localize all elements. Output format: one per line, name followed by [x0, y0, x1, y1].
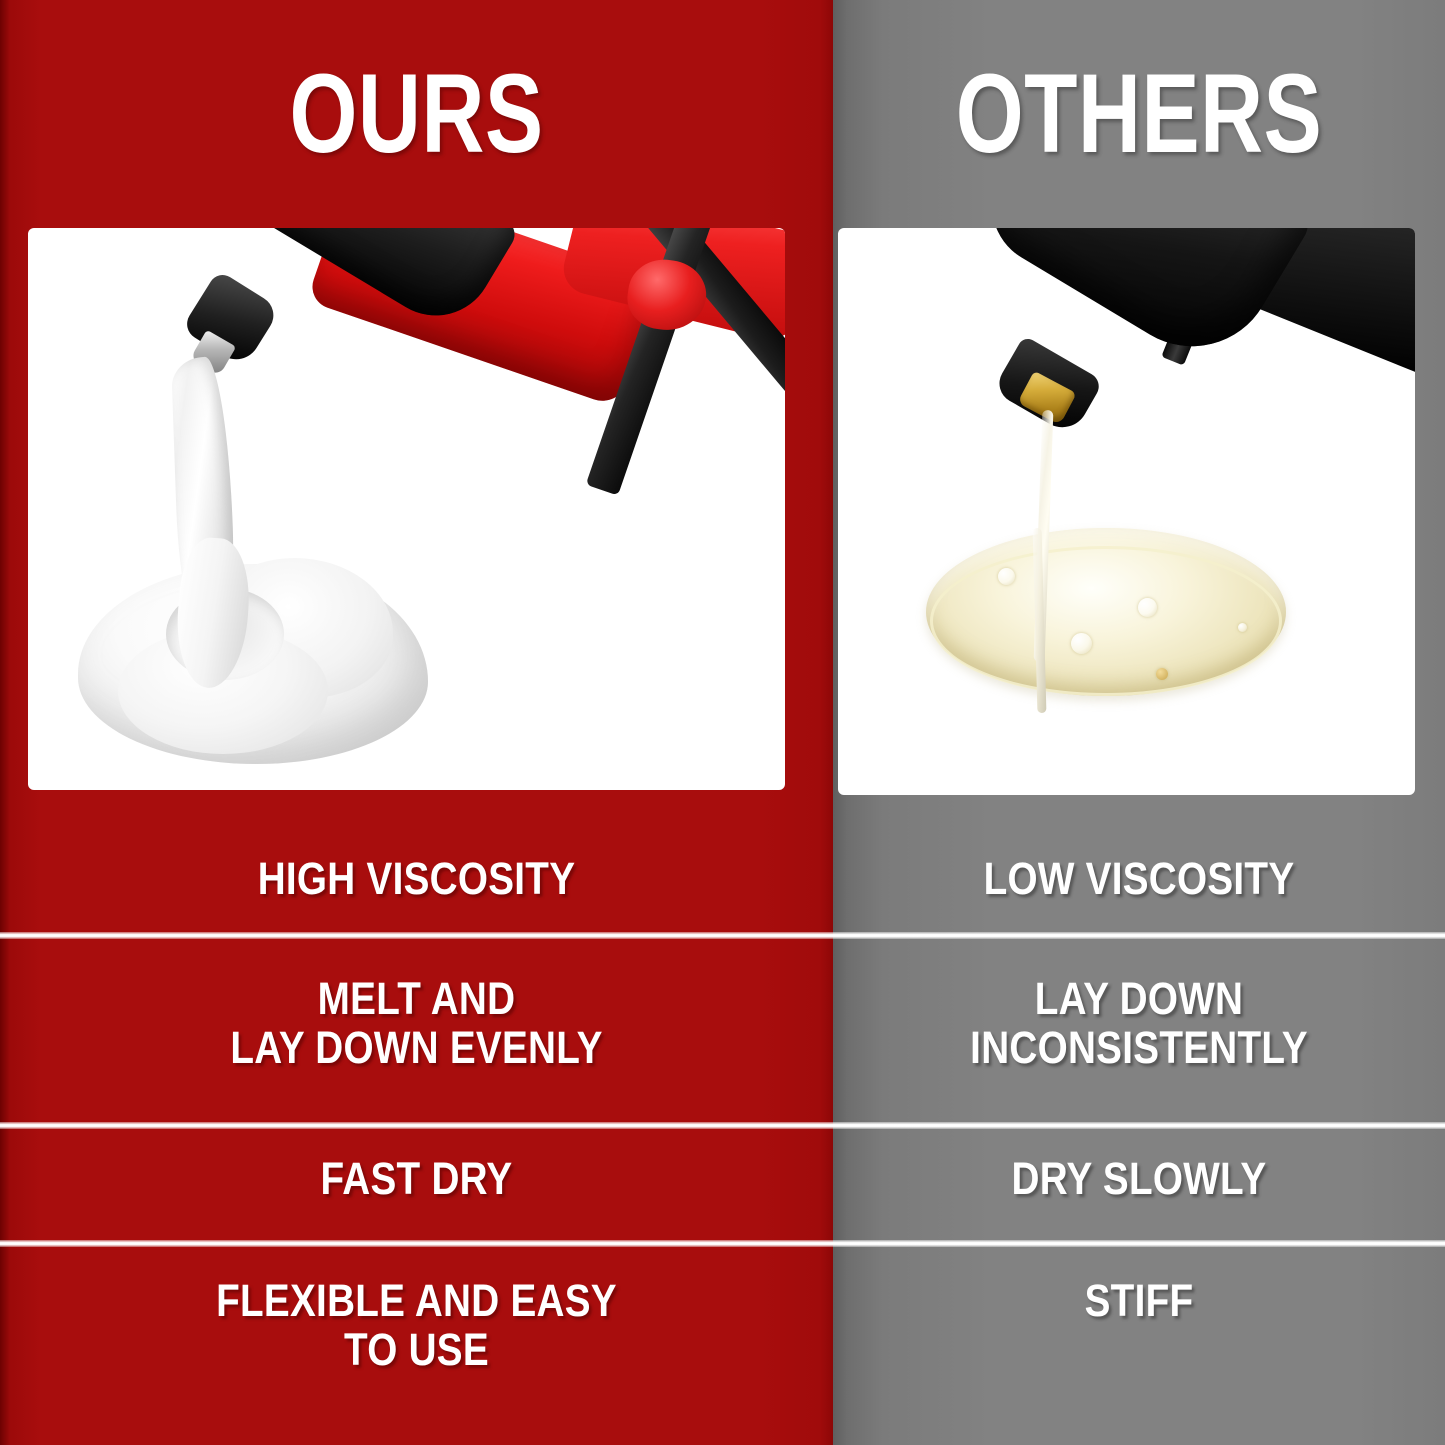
row-2-others-line-1: LAY DOWN	[876, 975, 1402, 1024]
others-column-title: OTHERS	[900, 58, 1377, 170]
puddle-bubble-icon	[1156, 668, 1168, 680]
row-4-ours-line-2: TO USE	[58, 1326, 774, 1375]
others-product-photo	[838, 228, 1415, 795]
row-4-ours-line-1: FLEXIBLE AND EASY	[58, 1277, 774, 1326]
puddle-bubble-icon	[998, 568, 1015, 585]
row-divider	[0, 932, 1445, 939]
row-1-others-label: LOW VISCOSITY	[876, 855, 1402, 904]
row-divider	[0, 1240, 1445, 1247]
row-4-others-label: STIFF	[876, 1277, 1402, 1326]
comparison-infographic: OURS OTHERS HIGH VISCOSITY LOW	[0, 0, 1445, 1445]
row-divider	[0, 1122, 1445, 1129]
row-2-others-line-2: INCONSISTENTLY	[876, 1024, 1402, 1073]
puddle-rim-icon	[930, 546, 1282, 696]
ours-product-photo	[28, 228, 785, 790]
puddle-bubble-icon	[1071, 633, 1092, 654]
puddle-bubble-icon	[1138, 598, 1157, 617]
ours-column-title: OURS	[92, 58, 742, 170]
row-3-ours-label: FAST DRY	[58, 1155, 774, 1204]
row-4-ours-label: FLEXIBLE AND EASY TO USE	[58, 1277, 774, 1374]
puddle-bubble-icon	[1238, 623, 1247, 632]
row-2-others-label: LAY DOWN INCONSISTENTLY	[876, 975, 1402, 1072]
row-1-ours-label: HIGH VISCOSITY	[58, 855, 774, 904]
row-2-ours-label: MELT AND LAY DOWN EVENLY	[58, 975, 774, 1072]
row-2-ours-line-2: LAY DOWN EVENLY	[58, 1024, 774, 1073]
row-3-others-label: DRY SLOWLY	[876, 1155, 1402, 1204]
row-2-ours-line-1: MELT AND	[58, 975, 774, 1024]
